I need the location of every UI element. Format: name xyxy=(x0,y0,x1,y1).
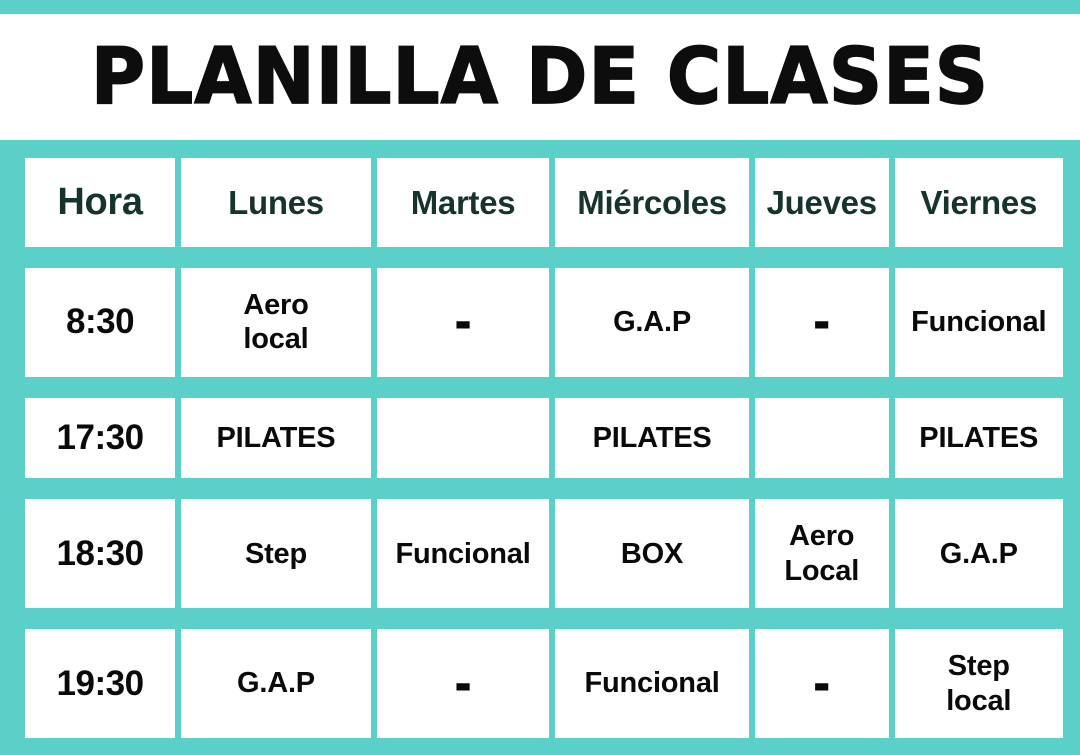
class-name-line1: Step xyxy=(946,649,1011,683)
class-cell-jueves[interactable]: - xyxy=(755,629,889,738)
class-cell-lunes[interactable]: PILATES xyxy=(181,398,371,478)
class-cell-miercoles[interactable]: PILATES xyxy=(555,398,749,478)
column-header-hora: Hora xyxy=(25,158,175,247)
class-cell-lunes[interactable]: Aero local xyxy=(181,268,371,377)
table-row: 8:30 Aero local - G.A.P - Funcional xyxy=(25,268,1063,377)
class-cell-martes[interactable]: Funcional xyxy=(377,499,549,608)
column-header-martes: Martes xyxy=(377,158,549,247)
class-cell-miercoles[interactable]: BOX xyxy=(555,499,749,608)
class-cell-viernes[interactable]: Step local xyxy=(895,629,1063,738)
table-row: 19:30 G.A.P - Funcional - Step local xyxy=(25,629,1063,738)
column-header-lunes: Lunes xyxy=(181,158,371,247)
class-cell-viernes[interactable]: G.A.P xyxy=(895,499,1063,608)
column-header-jueves: Jueves xyxy=(755,158,889,247)
class-cell-viernes[interactable]: PILATES xyxy=(895,398,1063,478)
class-name-line1: Aero xyxy=(784,519,859,553)
class-cell-miercoles[interactable]: G.A.P xyxy=(555,268,749,377)
class-cell-miercoles[interactable]: Funcional xyxy=(555,629,749,738)
class-cell-lunes[interactable]: G.A.P xyxy=(181,629,371,738)
class-name-line2: local xyxy=(946,684,1011,718)
time-label: 19:30 xyxy=(25,629,175,738)
table-row: 18:30 Step Funcional BOX Aero Local G.A.… xyxy=(25,499,1063,608)
table-header-row: Hora Lunes Martes Miércoles Jueves Viern… xyxy=(25,158,1063,247)
title-banner: PLANILLA DE CLASES xyxy=(0,14,1080,140)
time-label: 18:30 xyxy=(25,499,175,608)
table-row: 17:30 PILATES PILATES PILATES xyxy=(25,398,1063,478)
class-cell-martes[interactable]: - xyxy=(377,268,549,377)
time-label: 17:30 xyxy=(25,398,175,478)
class-name-line2: local xyxy=(243,322,308,356)
column-header-miercoles: Miércoles xyxy=(555,158,749,247)
time-label: 8:30 xyxy=(25,268,175,377)
column-header-viernes: Viernes xyxy=(895,158,1063,247)
class-name-line1: Aero xyxy=(243,288,308,322)
class-cell-lunes[interactable]: Step xyxy=(181,499,371,608)
class-cell-viernes[interactable]: Funcional xyxy=(895,268,1063,377)
class-cell-martes[interactable] xyxy=(377,398,549,478)
class-name-line2: Local xyxy=(784,554,859,588)
class-cell-jueves[interactable]: - xyxy=(755,268,889,377)
class-cell-jueves[interactable] xyxy=(755,398,889,478)
page-title: PLANILLA DE CLASES xyxy=(91,38,989,116)
class-cell-martes[interactable]: - xyxy=(377,629,549,738)
class-schedule-sheet: PLANILLA DE CLASES Hora Lunes Martes Mié… xyxy=(0,0,1080,755)
class-cell-jueves[interactable]: Aero Local xyxy=(755,499,889,608)
schedule-grid: Hora Lunes Martes Miércoles Jueves Viern… xyxy=(0,140,1080,755)
